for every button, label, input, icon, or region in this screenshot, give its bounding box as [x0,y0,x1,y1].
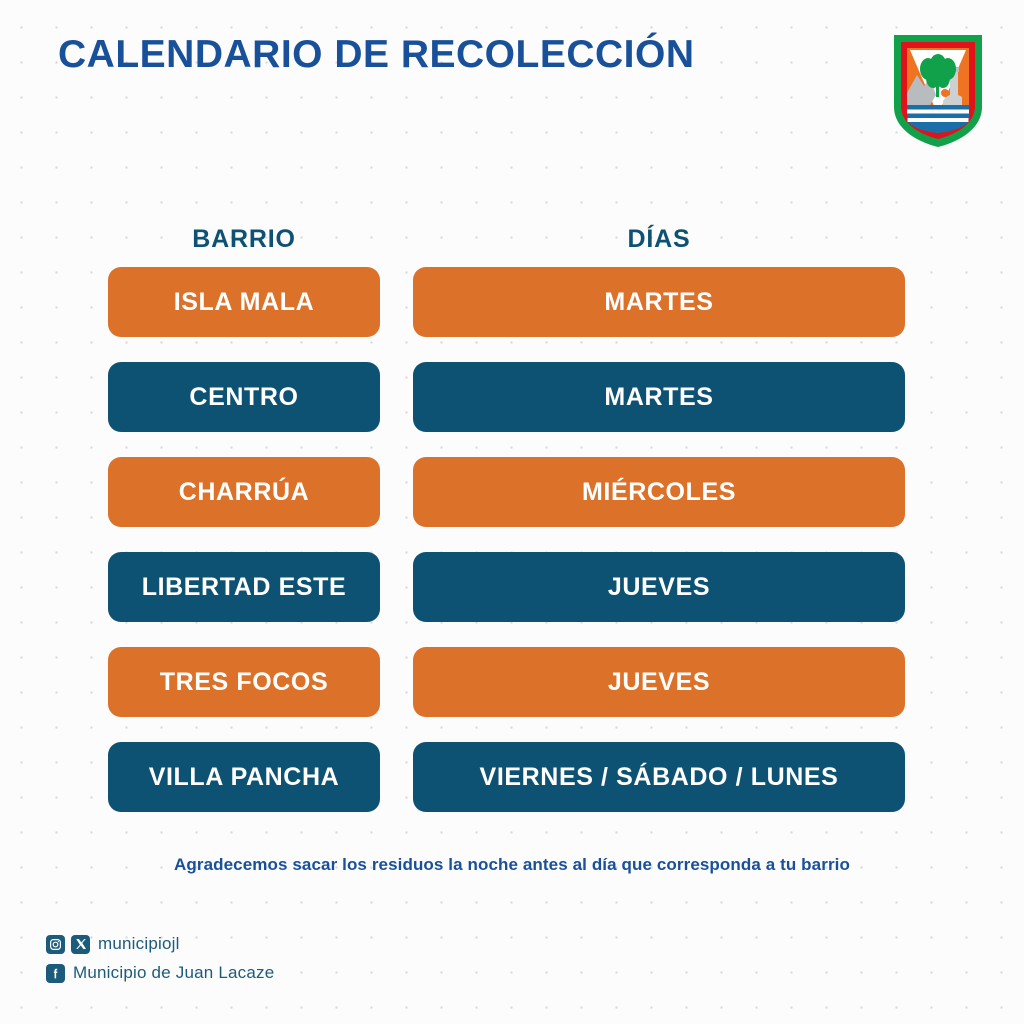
dias-cell: JUEVES [413,647,905,717]
barrio-cell: VILLA PANCHA [108,742,380,812]
barrio-cell: CHARRÚA [108,457,380,527]
social-footer: municipiojl Municipio de Juan Lacaze [46,931,274,989]
dias-cell: VIERNES / SÁBADO / LUNES [413,742,905,812]
instagram-icon[interactable] [46,935,65,954]
header: CALENDARIO DE RECOLECCIÓN [0,0,1024,160]
collection-schedule-table: BARRIO DÍAS ISLA MALA MARTES CENTRO MART… [0,225,1024,837]
x-icon[interactable] [71,935,90,954]
page-title: CALENDARIO DE RECOLECCIÓN [58,33,695,77]
dias-cell: MARTES [413,267,905,337]
table-row: CHARRÚA MIÉRCOLES [0,457,1024,552]
social-line-instagram-x: municipiojl [46,931,274,957]
dias-cell: JUEVES [413,552,905,622]
instruction-note: Agradecemos sacar los residuos la noche … [0,855,1024,875]
facebook-icon[interactable] [46,964,65,983]
social-line-facebook: Municipio de Juan Lacaze [46,960,274,986]
barrio-cell: CENTRO [108,362,380,432]
dias-cell: MIÉRCOLES [413,457,905,527]
social-handle-municipiojl[interactable]: municipiojl [98,934,180,954]
column-header-dias: DÍAS [413,225,905,254]
column-header-barrio: BARRIO [108,225,380,254]
barrio-cell: TRES FOCOS [108,647,380,717]
social-page-municipio-de-juan-lacaze[interactable]: Municipio de Juan Lacaze [73,963,274,983]
table-header-row: BARRIO DÍAS [0,225,1024,267]
barrio-cell: LIBERTAD ESTE [108,552,380,622]
table-row: LIBERTAD ESTE JUEVES [0,552,1024,647]
barrio-cell: ISLA MALA [108,267,380,337]
table-row: TRES FOCOS JUEVES [0,647,1024,742]
escudo-municipio-juan-lacaze-icon [890,31,986,149]
table-row: ISLA MALA MARTES [0,267,1024,362]
table-row: CENTRO MARTES [0,362,1024,457]
dias-cell: MARTES [413,362,905,432]
table-row: VILLA PANCHA VIERNES / SÁBADO / LUNES [0,742,1024,837]
